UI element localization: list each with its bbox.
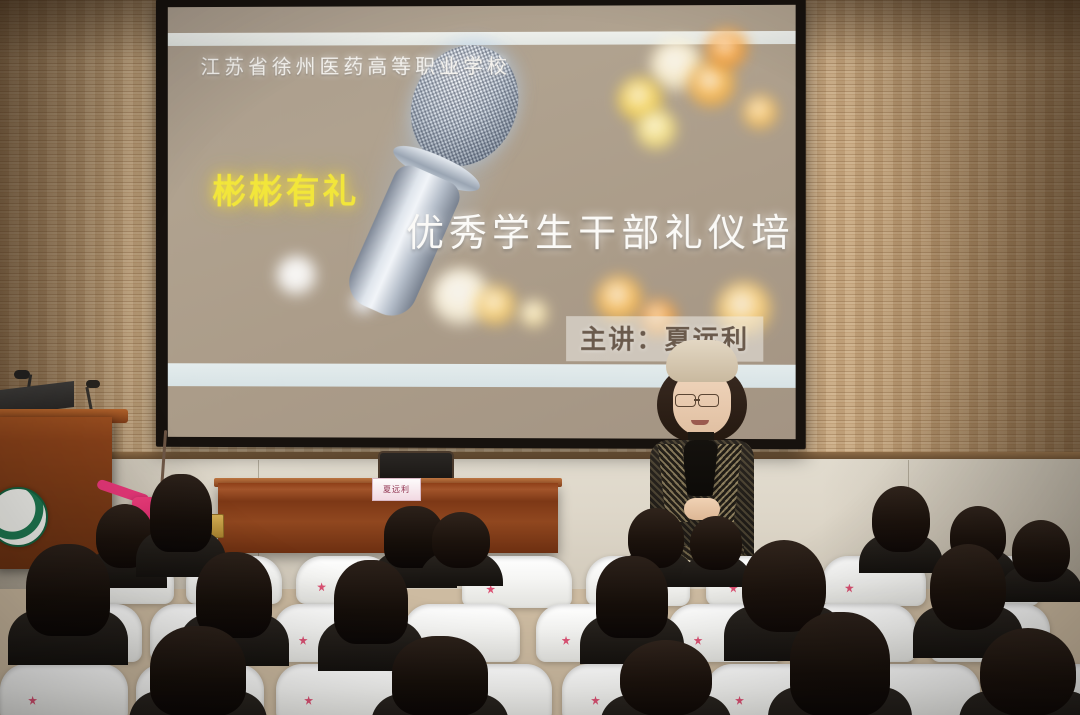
- audience-head: [150, 626, 246, 715]
- bokeh-light: [476, 286, 516, 326]
- slide-title: 优秀学生干部礼仪培训: [406, 202, 796, 257]
- slide-tagline: 彬彬有礼: [212, 164, 359, 213]
- table-nameplate: 夏远利: [372, 478, 421, 501]
- audience-seat: [0, 664, 128, 715]
- wall-right-shadow: [850, 0, 1080, 458]
- audience-head: [980, 628, 1076, 715]
- slide-school-header: 江苏省徐州医药高等职业学校: [200, 50, 511, 80]
- bokeh-lights: [168, 5, 796, 7]
- audience-head: [596, 556, 668, 638]
- lecture-hall-photo: 江苏省徐州医药高等职业学校 彬彬有礼 优秀学生干部礼仪培训 主讲：夏远利 夏远利: [0, 0, 1080, 715]
- bokeh-light: [707, 29, 747, 69]
- bokeh-light: [520, 300, 548, 328]
- audience-head: [432, 512, 490, 568]
- bokeh-light: [743, 95, 777, 129]
- table-nameplate-text: 夏远利: [373, 479, 420, 500]
- presenter-glasses-left: [675, 394, 696, 407]
- audience-head: [790, 612, 890, 715]
- audience-head: [930, 544, 1006, 630]
- audience-head: [392, 636, 488, 715]
- audience-head: [690, 516, 742, 570]
- presenter-glasses-bridge: [694, 399, 700, 401]
- presenter-glasses-right: [698, 394, 719, 407]
- audience-head: [334, 560, 408, 644]
- presenter-beret: [666, 340, 738, 382]
- audience-head: [620, 640, 712, 715]
- bokeh-light: [636, 110, 676, 150]
- audience-head: [872, 486, 930, 552]
- audience-head: [1012, 520, 1070, 582]
- audience-head: [150, 474, 212, 552]
- audience-head: [196, 552, 272, 638]
- presenter-mouth: [691, 420, 709, 425]
- audience-head: [26, 544, 110, 636]
